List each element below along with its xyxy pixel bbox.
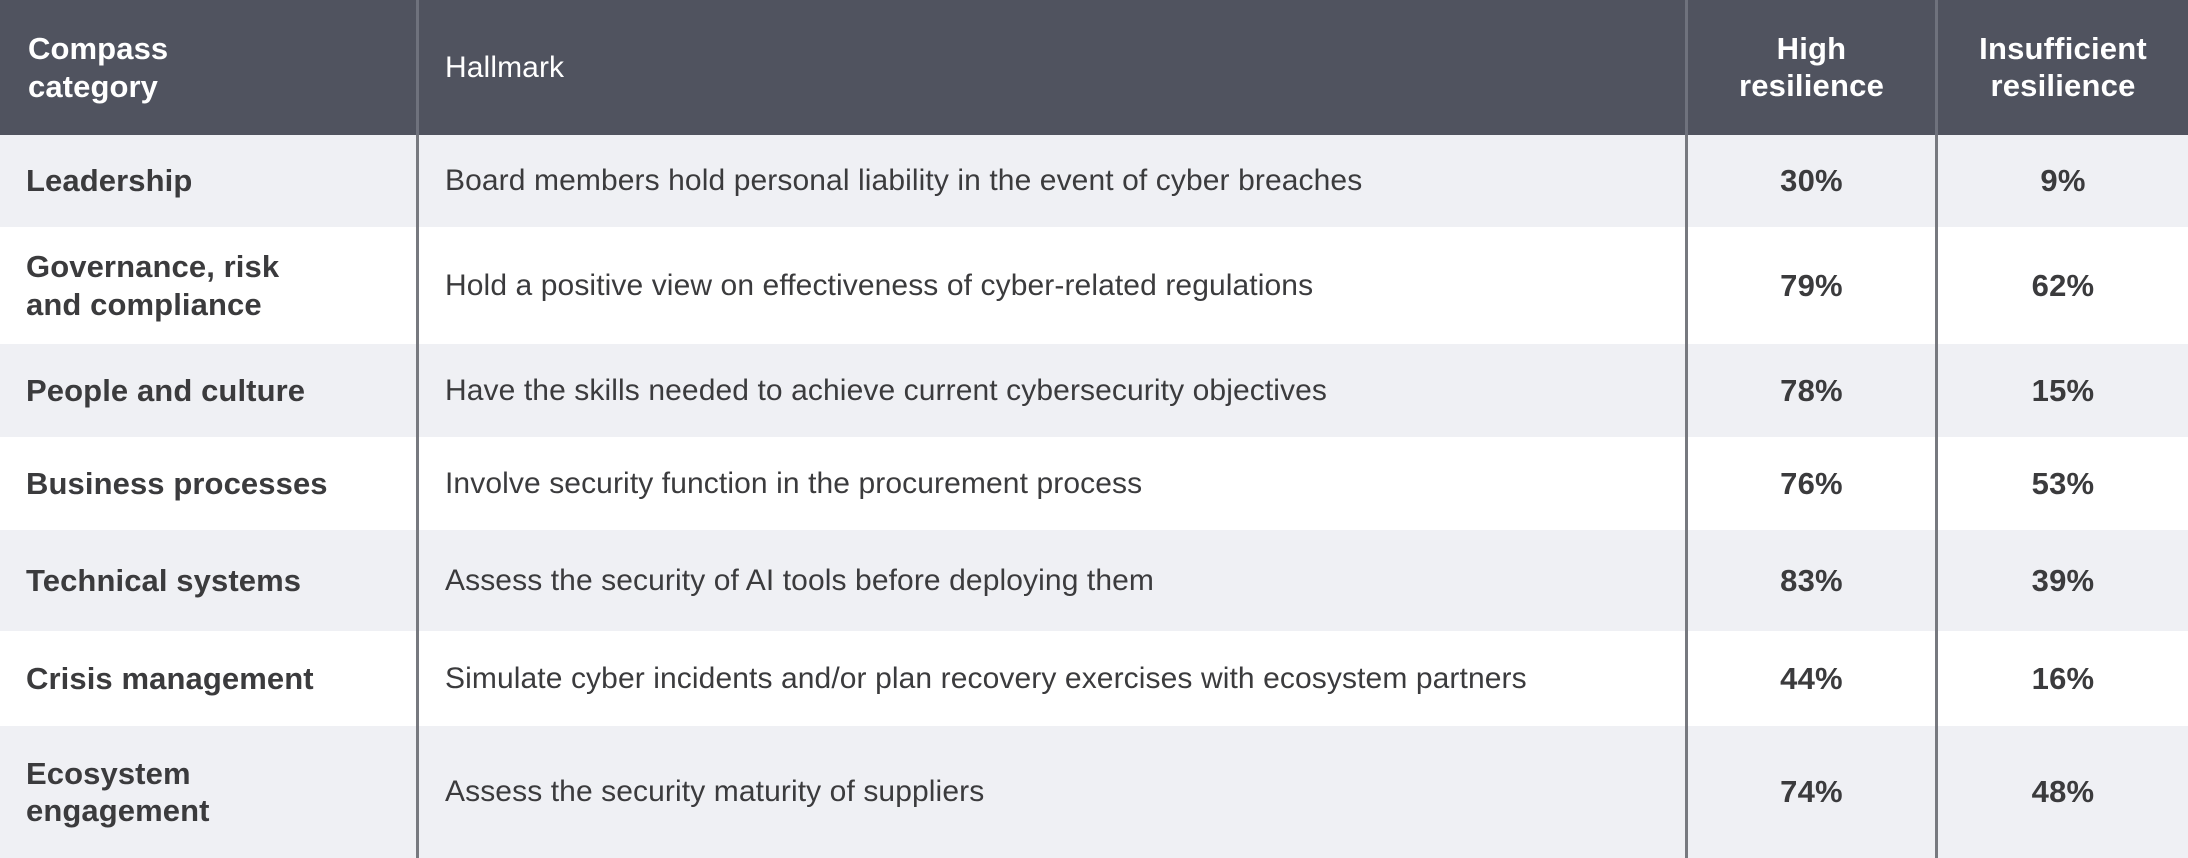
table-row: People and culture Have the skills neede…	[0, 344, 2188, 437]
cell-insufficient-resilience: 48%	[1938, 726, 2188, 858]
cell-high-resilience: 78%	[1688, 344, 1935, 437]
table-header-row: Compasscategory Hallmark Highresilience …	[0, 0, 2188, 135]
cell-high-resilience: 76%	[1688, 437, 1935, 530]
cell-hallmark: Assess the security maturity of supplier…	[419, 726, 1685, 858]
resilience-comparison-table: Compasscategory Hallmark Highresilience …	[0, 0, 2188, 858]
cell-insufficient-resilience: 16%	[1938, 631, 2188, 726]
cell-insufficient-resilience: 53%	[1938, 437, 2188, 530]
column-header-high-resilience: Highresilience	[1688, 0, 1935, 135]
column-header-compass-category: Compasscategory	[0, 0, 416, 135]
cell-insufficient-resilience: 9%	[1938, 135, 2188, 227]
cell-high-resilience: 74%	[1688, 726, 1935, 858]
table-row: Crisis management Simulate cyber inciden…	[0, 631, 2188, 726]
cell-compass-category: Technical systems	[0, 530, 416, 631]
cell-compass-category: Governance, riskand compliance	[0, 227, 416, 344]
cell-hallmark: Assess the security of AI tools before d…	[419, 530, 1685, 631]
table-row: Leadership Board members hold personal l…	[0, 135, 2188, 227]
table-row: Ecosystemengagement Assess the security …	[0, 726, 2188, 858]
cell-compass-category: Leadership	[0, 135, 416, 227]
cell-hallmark: Board members hold personal liability in…	[419, 135, 1685, 227]
table-row: Technical systems Assess the security of…	[0, 530, 2188, 631]
cell-compass-category: Business processes	[0, 437, 416, 530]
cell-hallmark: Simulate cyber incidents and/or plan rec…	[419, 631, 1685, 726]
column-header-hallmark: Hallmark	[419, 0, 1685, 135]
cell-hallmark: Have the skills needed to achieve curren…	[419, 344, 1685, 437]
cell-insufficient-resilience: 15%	[1938, 344, 2188, 437]
cell-hallmark: Involve security function in the procure…	[419, 437, 1685, 530]
cell-insufficient-resilience: 62%	[1938, 227, 2188, 344]
cell-high-resilience: 44%	[1688, 631, 1935, 726]
table-body: Leadership Board members hold personal l…	[0, 135, 2188, 858]
cell-insufficient-resilience: 39%	[1938, 530, 2188, 631]
cell-compass-category: Crisis management	[0, 631, 416, 726]
table-row: Business processes Involve security func…	[0, 437, 2188, 530]
cell-high-resilience: 79%	[1688, 227, 1935, 344]
cell-high-resilience: 30%	[1688, 135, 1935, 227]
cell-hallmark: Hold a positive view on effectiveness of…	[419, 227, 1685, 344]
cell-high-resilience: 83%	[1688, 530, 1935, 631]
cell-compass-category: People and culture	[0, 344, 416, 437]
cell-compass-category: Ecosystemengagement	[0, 726, 416, 858]
column-header-insufficient-resilience: Insufficientresilience	[1938, 0, 2188, 135]
table-row: Governance, riskand compliance Hold a po…	[0, 227, 2188, 344]
